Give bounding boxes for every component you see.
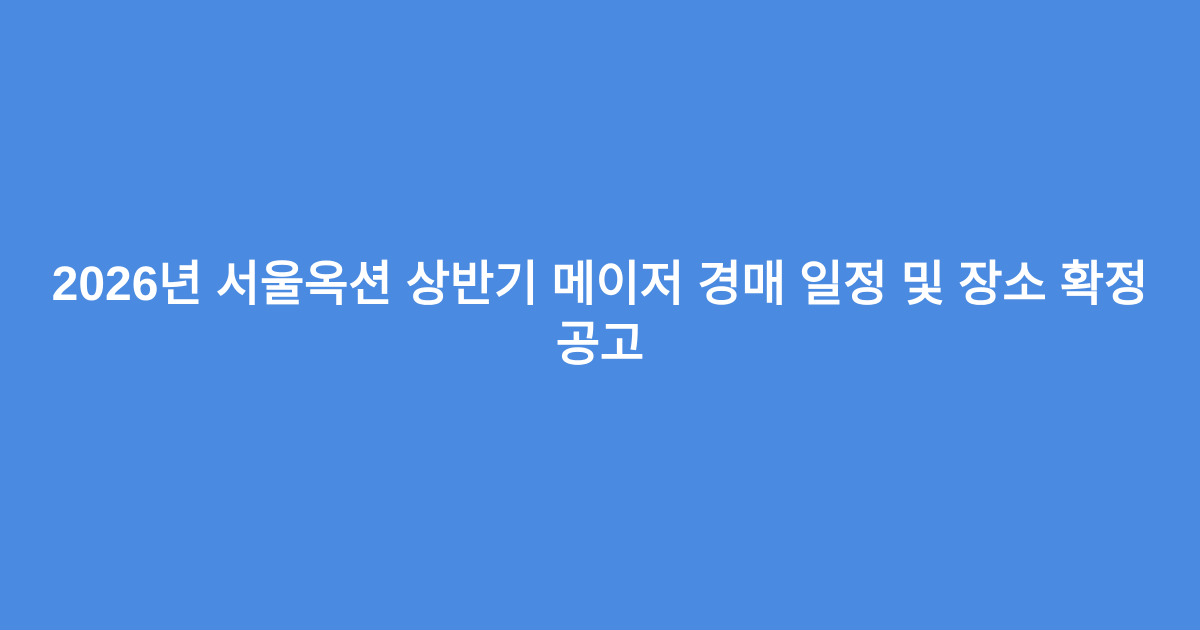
- og-card: 2026년 서울옥션 상반기 메이저 경매 일정 및 장소 확정 공고: [0, 0, 1200, 630]
- page-title: 2026년 서울옥션 상반기 메이저 경매 일정 및 장소 확정 공고: [50, 255, 1150, 375]
